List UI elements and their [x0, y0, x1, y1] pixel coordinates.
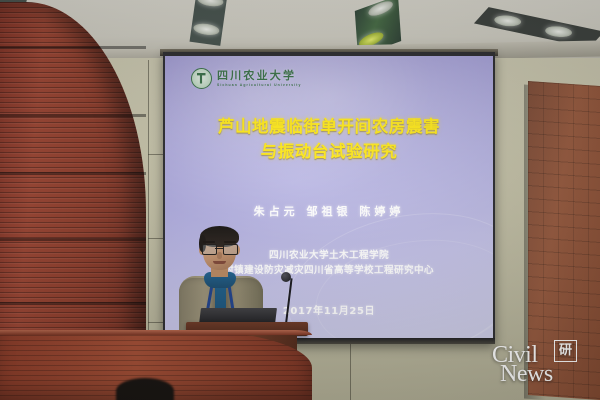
university-name-cn: 四川农业大学 [217, 70, 301, 82]
desk-edge [0, 330, 312, 335]
recessed-light-icon [542, 24, 576, 39]
mouth [213, 261, 226, 264]
conference-photo: 四川农业大学 Sichuan Agricultural University 芦… [0, 0, 600, 400]
watermark-line2: News [500, 361, 553, 388]
university-emblem-icon [191, 68, 212, 89]
university-name-en: Sichuan Agricultural University [217, 83, 301, 87]
slide-title-line1: 芦山地震临街单开间农房震害 [165, 114, 493, 139]
watermark: Civil 研 News [492, 342, 596, 396]
slide-decorative-swirl [308, 227, 493, 340]
eyebrow [203, 241, 215, 243]
watermark-badge: 研 [554, 340, 577, 362]
slide-title: 芦山地震临街单开间农房震害 与振动台试验研究 [165, 114, 493, 164]
recessed-light-icon [197, 0, 224, 8]
glasses-bridge [215, 248, 223, 249]
eyebrow [224, 241, 236, 243]
audience-head-silhouette [116, 378, 174, 400]
microphone-icon [281, 272, 291, 282]
slide-title-line2: 与振动台试验研究 [165, 139, 493, 164]
recessed-light-icon [193, 22, 220, 37]
nose [217, 252, 222, 259]
lens [202, 244, 217, 255]
university-logo: 四川农业大学 Sichuan Agricultural University [191, 68, 301, 89]
slide-authors: 朱占元 邹祖银 陈婷婷 [165, 203, 493, 219]
lens [223, 244, 238, 255]
recessed-light-icon [491, 13, 525, 28]
